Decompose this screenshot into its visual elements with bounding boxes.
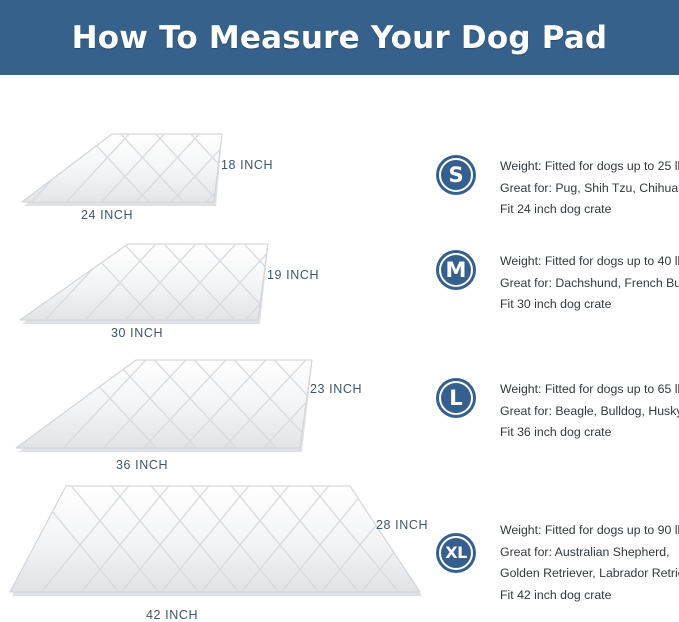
dimension-width-xlarge: 42 INCH [146,608,198,622]
size-description-medium: Weight: Fitted for dogs up to 40 lbs Gre… [500,250,679,316]
size-block-medium: M Weight: Fitted for dogs up to 40 lbs G… [436,250,679,316]
size-badge-xl-icon: XL [436,533,476,573]
pad-svg-medium [0,238,440,338]
dimension-width-medium: 30 INCH [111,326,163,340]
size-description-large: Weight: Fitted for dogs up to 65 lbs Gre… [500,378,679,444]
size-detail-line: Great for: Pug, Shih Tzu, Chihuahua [500,178,679,200]
dimension-width-small: 24 INCH [81,208,133,222]
pad-illustration-small: 18 INCH 24 INCH [0,126,440,216]
size-detail-line: Weight: Fitted for dogs up to 40 lbs [500,251,679,273]
pad-illustration-medium: 19 INCH 30 INCH [0,238,440,338]
size-block-xlarge: XL Weight: Fitted for dogs up to 90 lbs … [436,519,679,606]
dimension-depth-xlarge: 28 INCH [376,518,428,532]
size-detail-line: Great for: Beagle, Bulldog, Husky [500,401,679,423]
page-title: How To Measure Your Dog Pad [72,20,608,56]
size-badge-l-icon: L [436,378,476,418]
header-banner: How To Measure Your Dog Pad [0,0,679,75]
size-detail-line: Great for: Australian Shepherd, [500,542,679,564]
size-block-small: S Weight: Fitted for dogs up to 25 lbs G… [436,155,679,221]
dimension-depth-small: 18 INCH [221,158,273,172]
size-detail-line: Weight: Fitted for dogs up to 25 lbs [500,156,679,178]
dimension-depth-medium: 19 INCH [267,268,319,282]
size-badge-m-label: M [446,260,467,281]
size-description-small: Weight: Fitted for dogs up to 25 lbs Gre… [500,155,679,221]
pad-svg-large [0,354,440,464]
size-detail-line: Golden Retriever, Labrador Retriever [500,563,679,585]
pad-illustration-xlarge: 28 INCH 42 INCH [0,480,440,608]
size-detail-line: Weight: Fitted for dogs up to 65 lbs [500,379,679,401]
size-detail-line: Fit 36 inch dog crate [500,422,679,444]
size-block-large: L Weight: Fitted for dogs up to 65 lbs G… [436,378,679,444]
size-badge-m-icon: M [436,250,476,290]
size-detail-line: Fit 42 inch dog crate [500,585,679,607]
dimension-width-large: 36 INCH [116,458,168,472]
pad-illustration-large: 23 INCH 36 INCH [0,354,440,464]
size-badge-s-icon: S [436,155,476,195]
size-detail-line: Great for: Dachshund, French Bulldog [500,273,679,295]
dimension-depth-large: 23 INCH [310,382,362,396]
size-badge-l-label: L [449,388,462,409]
size-detail-line: Fit 30 inch dog crate [500,294,679,316]
pad-svg-small [0,126,440,216]
size-detail-line: Fit 24 inch dog crate [500,199,679,221]
size-badge-xl-label: XL [445,545,467,561]
size-detail-line: Weight: Fitted for dogs up to 90 lbs [500,520,679,542]
pad-svg-xlarge [0,480,440,608]
size-badge-s-label: S [448,165,463,186]
size-description-xlarge: Weight: Fitted for dogs up to 90 lbs Gre… [500,519,679,606]
